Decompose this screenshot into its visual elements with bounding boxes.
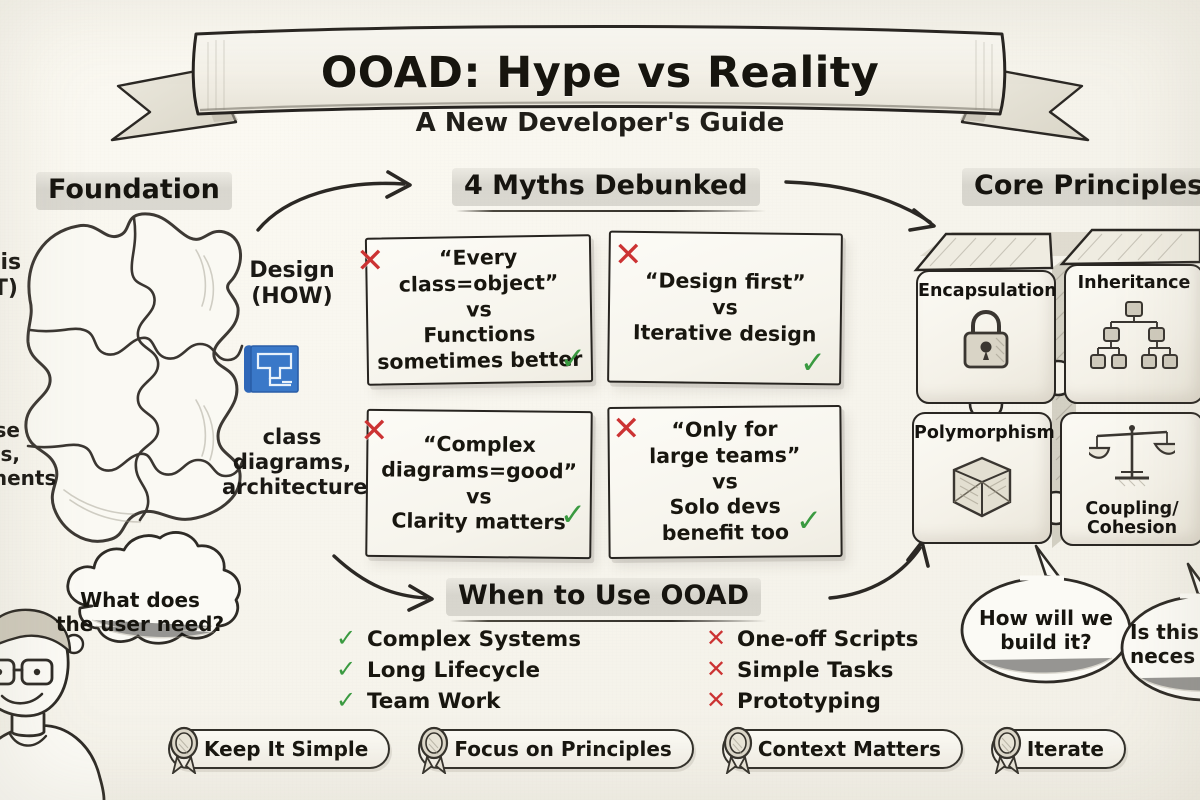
red-x-icon: ✕ (706, 657, 728, 681)
takeaway-badge[interactable]: Focus on Principles (418, 727, 693, 771)
section-header-myths: 4 Myths Debunked (452, 168, 760, 206)
analysis-label: Analysis (WHAT) (0, 250, 18, 302)
padlock-icon (958, 308, 1014, 370)
rosette-icon (987, 726, 1027, 774)
list-item: ✕ Prototyping (706, 688, 918, 719)
myth-card[interactable]: “Complex diagrams=good” vs Clarity matte… (365, 409, 593, 559)
list-item: ✓ Team Work (336, 688, 581, 719)
rosette-icon (164, 726, 204, 774)
principle-label: Coupling/ Cohesion (1062, 500, 1200, 539)
list-item: ✕ Simple Tasks (706, 657, 918, 688)
section-header-core-principles: Core Principles (962, 168, 1200, 206)
list-item-label: Team Work (367, 689, 500, 714)
list-item-label: Simple Tasks (737, 658, 893, 683)
principle-tile-polymorphism[interactable]: Polymorphism (912, 412, 1052, 544)
when-to-use-cons: ✕ One-off Scripts ✕ Simple Tasks ✕ Proto… (706, 626, 918, 719)
principle-tile-inheritance[interactable]: Inheritance (1064, 264, 1200, 404)
content-layer: OOAD: Hype vs Reality A New Developer's … (0, 0, 1200, 800)
hierarchy-tree-icon (1086, 300, 1182, 372)
speech-bubble-text-b: Is this neces (1130, 620, 1200, 669)
red-x-icon: ✕ (356, 244, 385, 278)
balance-scales-icon (1089, 420, 1175, 490)
principle-label: Inheritance (1066, 274, 1200, 293)
badge-label: Context Matters (722, 729, 963, 769)
green-check-icon: ✓ (336, 626, 358, 650)
blueprint-icon (240, 338, 302, 400)
red-x-icon: ✕ (706, 626, 728, 650)
myth-card-text: “Design first” vs Iterative design (618, 268, 833, 348)
red-x-icon: ✕ (360, 414, 389, 448)
design-sublabel: class diagrams, architecture (222, 425, 362, 501)
red-x-icon: ✕ (612, 412, 641, 446)
page-title: OOAD: Hype vs Reality (180, 48, 1020, 98)
rosette-icon (414, 726, 454, 774)
principle-label: Polymorphism (914, 424, 1050, 443)
principle-tile-encapsulation[interactable]: Encapsulation (916, 270, 1056, 404)
section-header-foundation: Foundation (36, 172, 232, 210)
list-item-label: Prototyping (737, 689, 881, 714)
takeaway-badge[interactable]: Keep It Simple (168, 727, 390, 771)
myth-card-text: “Every class=object” vs Functions someti… (375, 244, 583, 376)
thought-bubble-text: What does the user need? (52, 588, 228, 637)
red-x-icon: ✕ (614, 238, 643, 272)
section-header-when-to-use: When to Use OOAD (446, 578, 761, 616)
list-item: ✓ Complex Systems (336, 626, 581, 657)
green-check-icon: ✓ (336, 657, 358, 681)
core-principles-block: Encapsulation Inheritance (906, 228, 1200, 548)
takeaway-badge[interactable]: Context Matters (722, 727, 963, 771)
green-check-icon: ✓ (796, 506, 822, 537)
principle-tile-coupling-cohesion[interactable]: Coupling/ Cohesion (1060, 412, 1200, 546)
when-to-use-pros: ✓ Complex Systems ✓ Long Lifecycle ✓ Tea… (336, 626, 581, 719)
list-item-label: Long Lifecycle (367, 658, 540, 683)
green-check-icon: ✓ (336, 688, 358, 712)
principle-label: Encapsulation (918, 282, 1054, 301)
list-item: ✕ One-off Scripts (706, 626, 918, 657)
poster-canvas: OOAD: Hype vs Reality A New Developer's … (0, 0, 1200, 800)
speech-bubble-text-a: How will we build it? (968, 606, 1124, 655)
page-subtitle: A New Developer's Guide (180, 108, 1020, 138)
myth-card-text: “Complex diagrams=good” vs Clarity matte… (375, 431, 582, 536)
green-check-icon: ✓ (560, 344, 586, 375)
takeaway-badge[interactable]: Iterate (991, 727, 1126, 771)
list-item-label: Complex Systems (367, 627, 581, 652)
wireframe-cube-icon (948, 454, 1016, 520)
design-label: Design (HOW) (232, 258, 352, 310)
green-check-icon: ✓ (800, 348, 826, 379)
list-item: ✓ Long Lifecycle (336, 657, 581, 688)
list-item-label: One-off Scripts (737, 627, 918, 652)
green-check-icon: ✓ (560, 500, 586, 531)
badge-label: Focus on Principles (418, 729, 693, 769)
takeaway-badge-row: Keep It Simple Focus on Principles (168, 727, 1126, 771)
red-x-icon: ✕ (706, 688, 728, 712)
analysis-sublabel: use cases, requirements (0, 418, 20, 490)
rosette-icon (718, 726, 758, 774)
myth-card[interactable]: “Every class=object” vs Functions someti… (365, 234, 593, 386)
